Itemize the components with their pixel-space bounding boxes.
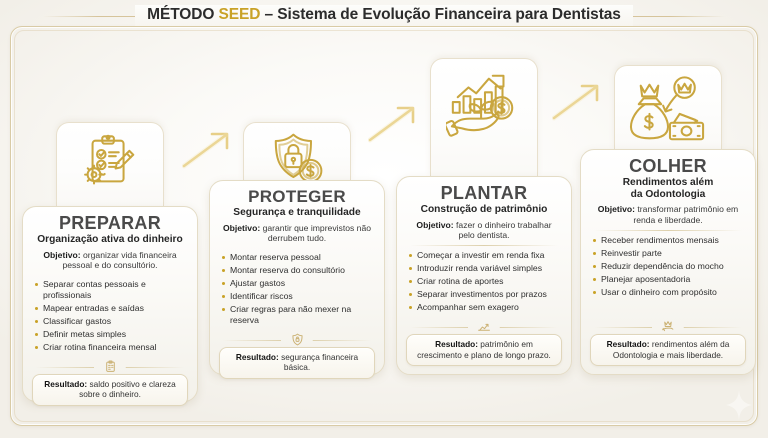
list-item: Planejar aposentadoria — [592, 274, 746, 285]
list-item: Separar investimentos por prazos — [408, 289, 562, 300]
result-box-proteger: Resultado: segurança financeira básica. — [219, 347, 375, 379]
step-subtitle-plantar: Construção de patrimônio — [406, 204, 562, 216]
list-item: Ajustar gastos — [221, 278, 375, 289]
objective-divider — [594, 230, 742, 231]
result-separator-preparar — [34, 360, 186, 373]
result-text: segurança financeira básica. — [279, 352, 358, 372]
list-item: Criar rotina financeira mensal — [34, 342, 188, 353]
diagram-stage: PREPARAR Organização ativa do dinheiro O… — [0, 0, 768, 438]
title-rule-left — [43, 16, 135, 17]
step-card-preparar[interactable]: PREPARAR Organização ativa do dinheiro O… — [22, 206, 198, 402]
result-separator-colher — [592, 320, 744, 333]
icon-header-preparar — [56, 122, 164, 207]
result-label: Resultado: — [607, 339, 650, 349]
title-suffix: – Sistema de Evolução Financeira para De… — [260, 6, 620, 23]
objective-label: Objetivo: — [416, 220, 453, 230]
step-objective-colher: Objetivo: transformar patrimônio em rend… — [590, 204, 746, 225]
sparkle-watermark — [726, 390, 752, 420]
list-item: Introduzir renda variável simples — [408, 263, 562, 274]
shield-lock-coin-icon — [268, 131, 326, 187]
list-item: Identificar riscos — [221, 291, 375, 302]
objective-label: Objetivo: — [223, 223, 260, 233]
list-item: Reduzir dependência do mocho — [592, 261, 746, 272]
card-body-proteger: PROTEGER Segurança e tranquilidade Objet… — [209, 180, 385, 375]
step-objective-plantar: Objetivo: fazer o dinheiro trabalhar pel… — [406, 220, 562, 241]
bullet-list-plantar: Começar a investir em renda fixa Introdu… — [406, 250, 562, 316]
objective-text: garantir que imprevistos não derrubem tu… — [260, 223, 371, 244]
card-body-colher: COLHER Rendimentos além da Odontologia O… — [580, 149, 756, 375]
bullet-list-preparar: Separar contas pessoais e profissionais … — [32, 279, 188, 355]
card-body-preparar: PREPARAR Organização ativa do dinheiro O… — [22, 206, 198, 402]
step-title-colher: COLHER — [590, 157, 746, 176]
result-label: Resultado: — [44, 379, 87, 389]
list-item: Mapear entradas e saídas — [34, 303, 188, 314]
result-box-plantar: Resultado: patrimônio em crescimento e p… — [406, 334, 562, 366]
objective-divider — [410, 245, 558, 246]
clipboard-icon — [104, 360, 117, 373]
list-item: Usar o dinheiro com propósito — [592, 287, 746, 298]
list-item: Criar regras para não mexer na reserva — [221, 304, 375, 325]
arrow-proteger-to-plantar — [368, 100, 428, 146]
title-rule-right — [633, 16, 725, 17]
step-objective-preparar: Objetivo: organizar vida financeira pess… — [32, 250, 188, 271]
result-label: Resultado: — [236, 352, 279, 362]
hand-plant-growth-coin-icon — [446, 67, 522, 141]
result-text: saldo positivo e clareza sobre o dinheir… — [79, 379, 176, 399]
title-prefix: MÉTODO — [147, 6, 218, 23]
list-item: Montar reserva do consultório — [221, 265, 375, 276]
list-item: Montar reserva pessoal — [221, 252, 375, 263]
list-item: Receber rendimentos mensais — [592, 235, 746, 246]
list-item: Acompanhar sem exagero — [408, 302, 562, 313]
objective-label: Objetivo: — [598, 204, 635, 214]
page-title-band: MÉTODO SEED – Sistema de Evolução Financ… — [135, 5, 633, 26]
icon-header-plantar — [430, 58, 538, 177]
bullet-list-colher: Receber rendimentos mensais Reinvestir p… — [590, 235, 746, 301]
step-card-plantar[interactable]: PLANTAR Construção de patrimônio Objetiv… — [396, 176, 572, 375]
bullet-list-proteger: Montar reserva pessoal Montar reserva do… — [219, 252, 375, 328]
title-highlight-seed: SEED — [219, 6, 261, 23]
step-subtitle-proteger: Segurança e tranquilidade — [219, 207, 375, 219]
list-item: Criar rotina de aportes — [408, 276, 562, 287]
step-card-colher[interactable]: COLHER Rendimentos além da Odontologia O… — [580, 149, 756, 375]
step-objective-proteger: Objetivo: garantir que imprevistos não d… — [219, 223, 375, 244]
arrow-plantar-to-colher — [552, 78, 612, 124]
step-subtitle-colher: Rendimentos além da Odontologia — [590, 177, 746, 200]
icon-header-proteger — [243, 122, 351, 181]
clipboard-checklist-gear-pencil-icon — [79, 131, 141, 193]
arrow-preparar-to-proteger — [182, 126, 242, 172]
list-item: Definir metas simples — [34, 329, 188, 340]
list-item: Separar contas pessoais e profissionais — [34, 279, 188, 300]
result-box-colher: Resultado: rendimentos além da Odontolog… — [590, 334, 746, 366]
list-item: Classificar gastos — [34, 316, 188, 327]
step-title-preparar: PREPARAR — [32, 214, 188, 233]
shield-icon — [291, 333, 304, 346]
result-separator-plantar — [408, 320, 560, 333]
result-separator-proteger — [221, 333, 373, 346]
card-body-plantar: PLANTAR Construção de patrimônio Objetiv… — [396, 176, 572, 375]
result-label: Resultado: — [435, 339, 478, 349]
step-title-proteger: PROTEGER — [219, 188, 375, 206]
page-title: MÉTODO SEED – Sistema de Evolução Financ… — [147, 6, 621, 23]
result-box-preparar: Resultado: saldo positivo e clareza sobr… — [32, 374, 188, 406]
objective-label: Objetivo: — [43, 250, 80, 260]
money-bag-crown-banknotes-icon — [628, 74, 708, 150]
step-card-proteger[interactable]: PROTEGER Segurança e tranquilidade Objet… — [209, 180, 385, 375]
step-subtitle-preparar: Organização ativa do dinheiro — [32, 234, 188, 246]
growth-chart-icon — [477, 320, 491, 333]
list-item: Começar a investir em renda fixa — [408, 250, 562, 261]
list-item: Reinvestir parte — [592, 248, 746, 259]
page-title-bar: MÉTODO SEED – Sistema de Evolução Financ… — [0, 0, 768, 30]
step-title-plantar: PLANTAR — [406, 184, 562, 203]
objective-text: fazer o dinheiro trabalhar pelo dentista… — [454, 220, 552, 241]
crown-hand-icon — [661, 320, 675, 333]
icon-header-colher — [614, 65, 722, 150]
objective-text: transformar patrimônio em renda e liberd… — [633, 204, 738, 225]
